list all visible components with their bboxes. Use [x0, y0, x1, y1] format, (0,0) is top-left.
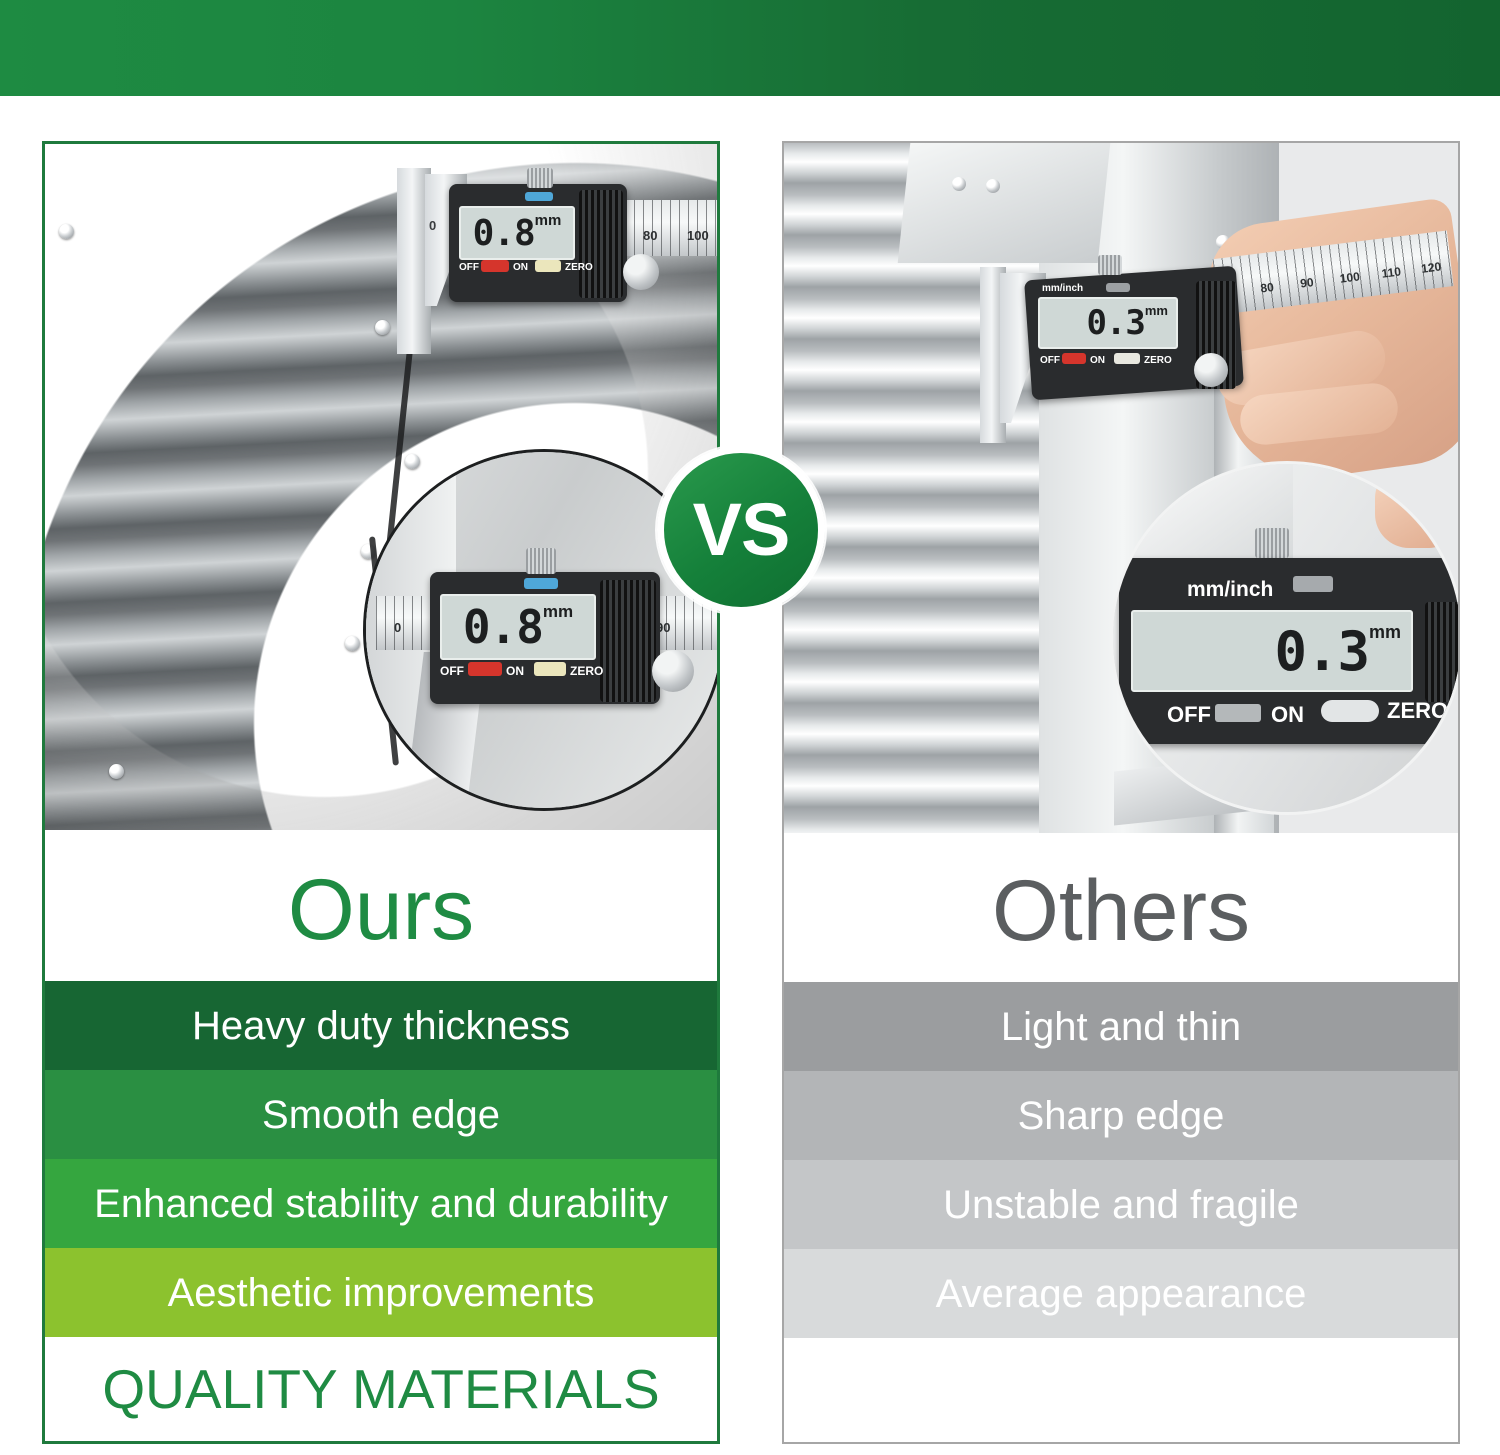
others-feature-row-1: Light and thin: [784, 982, 1458, 1071]
ours-label-block: Ours Heavy duty thickness Smooth edge En…: [45, 839, 717, 1441]
ours-product-photo: 80 100 110 0 0.8 mm OFF ON: [45, 144, 717, 830]
inset-zero-label: ZERO: [570, 664, 603, 678]
vs-label: VS: [693, 493, 790, 567]
others-footer-row: [784, 1338, 1458, 1442]
inset-off-label: OFF: [1167, 702, 1211, 728]
inset-caliper-unit: mm: [1369, 622, 1401, 643]
caliper-tick-label: 100: [687, 228, 709, 243]
caliper-display: 0.3 mm: [1038, 297, 1178, 349]
caliper-zero-label: ZERO: [1144, 355, 1172, 366]
caliper-on-label: ON: [513, 262, 528, 273]
caliper-zero-mark: 0: [429, 218, 436, 233]
others-feature-label: Unstable and fragile: [943, 1185, 1299, 1225]
bolt-icon: [109, 764, 124, 779]
ours-feature-label: Aesthetic improvements: [168, 1273, 595, 1313]
ours-feature-row-2: Smooth edge: [45, 1070, 717, 1159]
inset-lock-knob[interactable]: [526, 548, 556, 574]
caliper-power-switch[interactable]: [1062, 353, 1086, 364]
inset-on-label: ON: [506, 664, 524, 678]
caliper-display: 0.8 mm: [459, 206, 575, 260]
caliper-lock-knob[interactable]: [527, 168, 553, 188]
thin-top-corner: [898, 143, 1111, 263]
caliper-power-switch[interactable]: [481, 260, 509, 272]
caliper-roller[interactable]: [623, 254, 659, 290]
others-label-block: Others Light and thin Sharp edge Unstabl…: [784, 840, 1458, 1442]
comparison-stage: 80 100 110 0 0.8 mm OFF ON: [0, 96, 1500, 1455]
others-product-photo: 70 80 90 100 110 120 mm/inch 0.3 mm OFF: [784, 143, 1458, 833]
others-panel: 70 80 90 100 110 120 mm/inch 0.3 mm OFF: [782, 141, 1460, 1444]
inset-mode-label: mm/inch: [1187, 578, 1273, 602]
caliper-unit: mm: [1145, 303, 1168, 318]
ours-feature-row-1: Heavy duty thickness: [45, 981, 717, 1070]
others-feature-label: Average appearance: [936, 1274, 1307, 1314]
inset-caliper-reading: 0.3: [1274, 620, 1369, 683]
ours-feature-label: Heavy duty thickness: [192, 1006, 570, 1046]
bolt-icon: [59, 224, 74, 239]
ours-footer-row: QUALITY MATERIALS: [45, 1337, 717, 1441]
inset-mode-button[interactable]: [524, 578, 558, 589]
vs-badge: VS: [657, 446, 825, 614]
ours-feature-label: Enhanced stability and durability: [94, 1184, 668, 1224]
inset-caliper-display: 0.3 mm: [1131, 610, 1413, 692]
ours-panel: 80 100 110 0 0.8 mm OFF ON: [42, 141, 720, 1444]
inset-on-label: ON: [1271, 702, 1304, 728]
caliper-zero-button[interactable]: [1114, 353, 1140, 364]
inset-caliper-unit: mm: [543, 602, 573, 622]
caliper-tick-label: 120: [1420, 259, 1442, 275]
caliper-thumb-grip[interactable]: [579, 190, 623, 298]
inset-thumb-grip[interactable]: [600, 580, 656, 702]
others-title-row: Others: [784, 840, 1458, 982]
caliper-mode-label: mm/inch: [1042, 283, 1083, 294]
bolt-icon: [986, 179, 1000, 193]
others-feature-row-3: Unstable and fragile: [784, 1160, 1458, 1249]
caliper-mode-button[interactable]: [1106, 283, 1130, 292]
ours-feature-row-3: Enhanced stability and durability: [45, 1159, 717, 1248]
inset-zero-mark: 0: [394, 620, 401, 635]
others-feature-row-4: Average appearance: [784, 1249, 1458, 1338]
inset-mode-button[interactable]: [1293, 576, 1333, 592]
caliper-scale: 80 100 110: [625, 200, 717, 256]
ours-feature-row-4: Aesthetic improvements: [45, 1248, 717, 1337]
ours-title: Ours: [288, 867, 474, 953]
inset-lock-knob[interactable]: [1255, 528, 1289, 558]
inset-power-switch[interactable]: [468, 662, 502, 676]
caliper-roller[interactable]: [1194, 353, 1228, 387]
caliper-on-label: ON: [1090, 355, 1105, 366]
inset-power-switch[interactable]: [1215, 704, 1261, 722]
inset-thumb-grip[interactable]: [1425, 602, 1458, 702]
inset-caliper-display: 0.8 mm: [440, 594, 596, 660]
others-feature-label: Light and thin: [1001, 1007, 1241, 1047]
bolt-icon: [375, 320, 390, 335]
others-feature-row-2: Sharp edge: [784, 1071, 1458, 1160]
caliper-off-label: OFF: [459, 262, 479, 273]
inset-caliper-roller[interactable]: [652, 650, 694, 692]
bolt-icon: [952, 177, 966, 191]
caliper-lock-knob[interactable]: [1098, 255, 1122, 275]
caliper-reading: 0.8: [473, 213, 535, 254]
caliper-unit: mm: [535, 212, 562, 229]
inset-zero-label: ZERO: [1387, 698, 1448, 724]
caliper-tick-label: 80: [643, 228, 657, 243]
ours-title-row: Ours: [45, 839, 717, 981]
inset-off-label: OFF: [440, 664, 464, 678]
ours-feature-label: Smooth edge: [262, 1095, 500, 1135]
others-caliper: 70 80 90 100 110 120 mm/inch 0.3 mm OFF: [980, 251, 1450, 451]
inset-caliper-reading: 0.8: [463, 600, 543, 654]
caliper-zero-label: ZERO: [565, 262, 593, 273]
others-feature-label: Sharp edge: [1018, 1096, 1225, 1136]
bolt-icon: [345, 636, 360, 651]
inset-caliper: 0 90 0.8 mm OFF ON: [376, 562, 716, 762]
caliper-tick-label: 80: [1260, 280, 1275, 296]
ours-caliper: 80 100 110 0 0.8 mm OFF ON: [397, 162, 717, 392]
inset-caliper: mm/inch 0.3 mm OFF ON ZERO: [1110, 524, 1458, 764]
top-banner: [0, 0, 1500, 96]
caliper-mode-button[interactable]: [525, 192, 553, 201]
caliper-off-label: OFF: [1040, 355, 1060, 366]
inset-zero-button[interactable]: [1321, 700, 1379, 722]
others-magnified-inset: mm/inch 0.3 mm OFF ON ZERO: [1110, 461, 1458, 815]
caliper-reading: 0.3: [1086, 303, 1144, 343]
caliper-tick-label: 90: [1299, 275, 1314, 291]
others-title: Others: [992, 868, 1250, 954]
ours-footer-label: QUALITY MATERIALS: [102, 1362, 659, 1417]
caliper-tick-label: 100: [1339, 269, 1361, 285]
inset-zero-button[interactable]: [534, 662, 566, 676]
caliper-zero-button[interactable]: [535, 260, 561, 272]
caliper-tick-label: 110: [1381, 264, 1402, 280]
